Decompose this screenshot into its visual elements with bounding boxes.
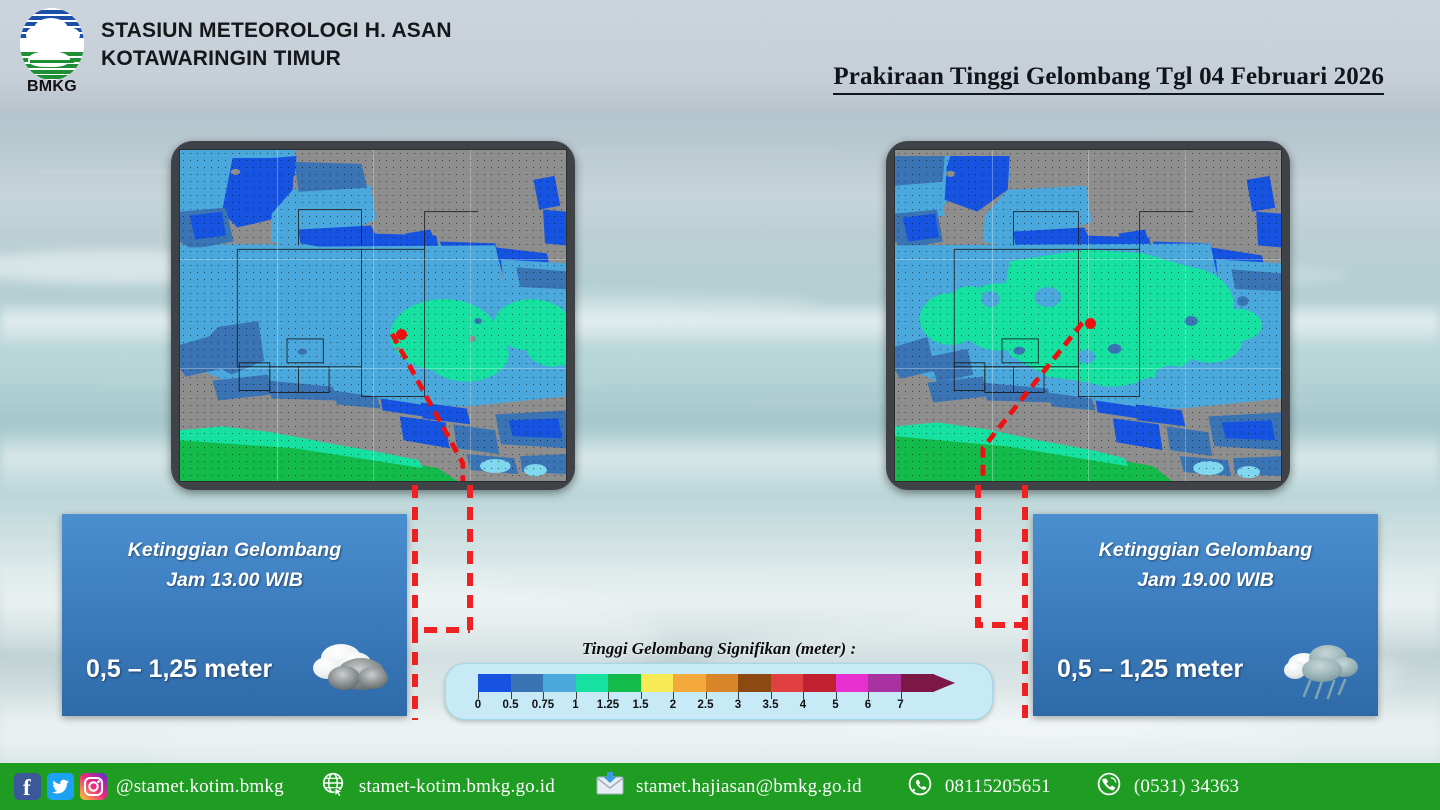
wave-height-map-1900[interactable] xyxy=(886,141,1290,490)
location-marker-1900[interactable] xyxy=(1085,318,1096,329)
colorbar-segment xyxy=(738,674,771,692)
footer-text-phone: (0531) 34363 xyxy=(1134,776,1239,798)
info-title-1300: Ketinggian Gelombang Jam 13.00 WIB xyxy=(62,514,407,595)
footer-text-website: stamet-kotim.bmkg.go.id xyxy=(359,776,555,798)
instagram-icon[interactable] xyxy=(80,773,107,800)
colorbar-label: 0.75 xyxy=(532,699,554,711)
colorbar-label: 2 xyxy=(670,699,676,711)
colorbar-label: 0 xyxy=(475,699,481,711)
colorbar-tick xyxy=(576,692,577,699)
footer-item-email[interactable]: stamet.hajiasan@bmkg.go.id xyxy=(595,763,862,810)
info-title-line1: Ketinggian Gelombang xyxy=(1033,536,1378,566)
colorbar-segment xyxy=(511,674,544,692)
info-title-line2: Jam 19.00 WIB xyxy=(1033,566,1378,596)
wave-height-map-1300[interactable] xyxy=(171,141,575,490)
colorbar-segment xyxy=(641,674,674,692)
map-canvas-1300[interactable] xyxy=(179,149,567,482)
info-title-1900: Ketinggian Gelombang Jam 19.00 WIB xyxy=(1033,514,1378,595)
page-title: Prakiraan Tinggi Gelombang Tgl 04 Februa… xyxy=(833,63,1384,95)
phone-icon[interactable] xyxy=(1095,770,1123,803)
colorbar-label: 3 xyxy=(735,699,741,711)
colorbar-tick xyxy=(673,692,674,699)
colorbar-label: 3.5 xyxy=(763,699,779,711)
colorbar-arrow xyxy=(933,674,955,692)
wave-height-colorbar: 00.50.7511.251.522.533.54567 xyxy=(445,663,993,720)
colorbar-tick xyxy=(901,692,902,699)
svg-text:f: f xyxy=(23,775,31,800)
colorbar-label: 7 xyxy=(897,699,903,711)
wave-height-value-1900: 0,5 – 1,25 meter xyxy=(1057,655,1243,684)
colorbar-segment xyxy=(478,674,511,692)
colorbar-label: 5 xyxy=(832,699,838,711)
whatsapp-icon[interactable] xyxy=(906,770,934,803)
colorbar-tick xyxy=(836,692,837,699)
footer-text-social: @stamet.kotim.bmkg xyxy=(116,776,284,798)
colorbar-segment xyxy=(771,674,804,692)
footer-item-social[interactable]: f @stamet.kotim.bmkg xyxy=(14,763,284,810)
colorbar-tick xyxy=(478,692,479,699)
org-title-line1: STASIUN METEOROLOGI H. ASAN xyxy=(101,17,452,45)
colorbar-label: 0.5 xyxy=(503,699,519,711)
colorbar-label: 1 xyxy=(572,699,578,711)
colorbar-tick xyxy=(706,692,707,699)
location-pointer-line-1900 xyxy=(895,150,1281,481)
location-pointer-line-1300 xyxy=(180,150,566,481)
colorbar-tick xyxy=(511,692,512,699)
page-header: BMKG STASIUN METEOROLOGI H. ASAN KOTAWAR… xyxy=(0,0,1440,112)
colorbar-label: 1.5 xyxy=(633,699,649,711)
colorbar-tick xyxy=(608,692,609,699)
wave-height-value-1300: 0,5 – 1,25 meter xyxy=(86,655,272,684)
info-title-line1: Ketinggian Gelombang xyxy=(62,536,407,566)
org-title: STASIUN METEOROLOGI H. ASAN KOTAWARINGIN… xyxy=(101,17,452,72)
globe-icon[interactable] xyxy=(320,770,348,803)
footer-item-phone[interactable]: (0531) 34363 xyxy=(1095,763,1239,810)
info-box-1900[interactable]: Ketinggian Gelombang Jam 19.00 WIB 0,5 –… xyxy=(1033,514,1378,716)
colorbar-segment xyxy=(608,674,641,692)
map-canvas-1900[interactable] xyxy=(894,149,1282,482)
colorbar-segment xyxy=(836,674,869,692)
bmkg-logo: BMKG xyxy=(14,8,90,102)
colorbar-label: 6 xyxy=(865,699,871,711)
colorbar-segment xyxy=(543,674,576,692)
location-marker-1300[interactable] xyxy=(396,329,407,340)
cloud-base xyxy=(20,38,84,50)
colorbar-segment xyxy=(868,674,901,692)
info-title-line2: Jam 13.00 WIB xyxy=(62,566,407,596)
bmkg-logo-ellipse xyxy=(20,8,84,80)
contact-footer: f @stamet.kotim.bmkg stamet-kotim. xyxy=(0,763,1440,810)
footer-item-whatsapp[interactable]: 08115205651 xyxy=(906,763,1051,810)
colorbar-segment xyxy=(706,674,739,692)
bmkg-logo-text: BMKG xyxy=(14,78,90,96)
colorbar-label: 1.25 xyxy=(597,699,619,711)
colorbar-segment xyxy=(901,674,934,692)
org-title-line2: KOTAWARINGIN TIMUR xyxy=(101,45,452,73)
twitter-icon[interactable] xyxy=(47,773,74,800)
rain-cloud-icon xyxy=(1282,636,1362,702)
colorbar-segment xyxy=(673,674,706,692)
footer-text-whatsapp: 08115205651 xyxy=(945,776,1051,798)
footer-text-email: stamet.hajiasan@bmkg.go.id xyxy=(636,776,862,798)
colorbar-segments xyxy=(478,674,933,692)
colorbar-tick xyxy=(641,692,642,699)
colorbar-label: 2.5 xyxy=(698,699,714,711)
colorbar-tick xyxy=(771,692,772,699)
footer-item-website[interactable]: stamet-kotim.bmkg.go.id xyxy=(320,763,555,810)
info-box-1300[interactable]: Ketinggian Gelombang Jam 13.00 WIB 0,5 –… xyxy=(62,514,407,716)
colorbar-segment xyxy=(803,674,836,692)
email-icon[interactable] xyxy=(595,771,625,802)
colorbar-segment xyxy=(576,674,609,692)
colorbar-tick xyxy=(803,692,804,699)
colorbar-label: 4 xyxy=(800,699,806,711)
colorbar-tick xyxy=(543,692,544,699)
colorbar-tick xyxy=(738,692,739,699)
facebook-icon[interactable]: f xyxy=(14,773,41,800)
legend-title: Tinggi Gelombang Signifikan (meter) : xyxy=(445,639,993,659)
cloudy-icon xyxy=(311,636,391,702)
colorbar-tick xyxy=(868,692,869,699)
